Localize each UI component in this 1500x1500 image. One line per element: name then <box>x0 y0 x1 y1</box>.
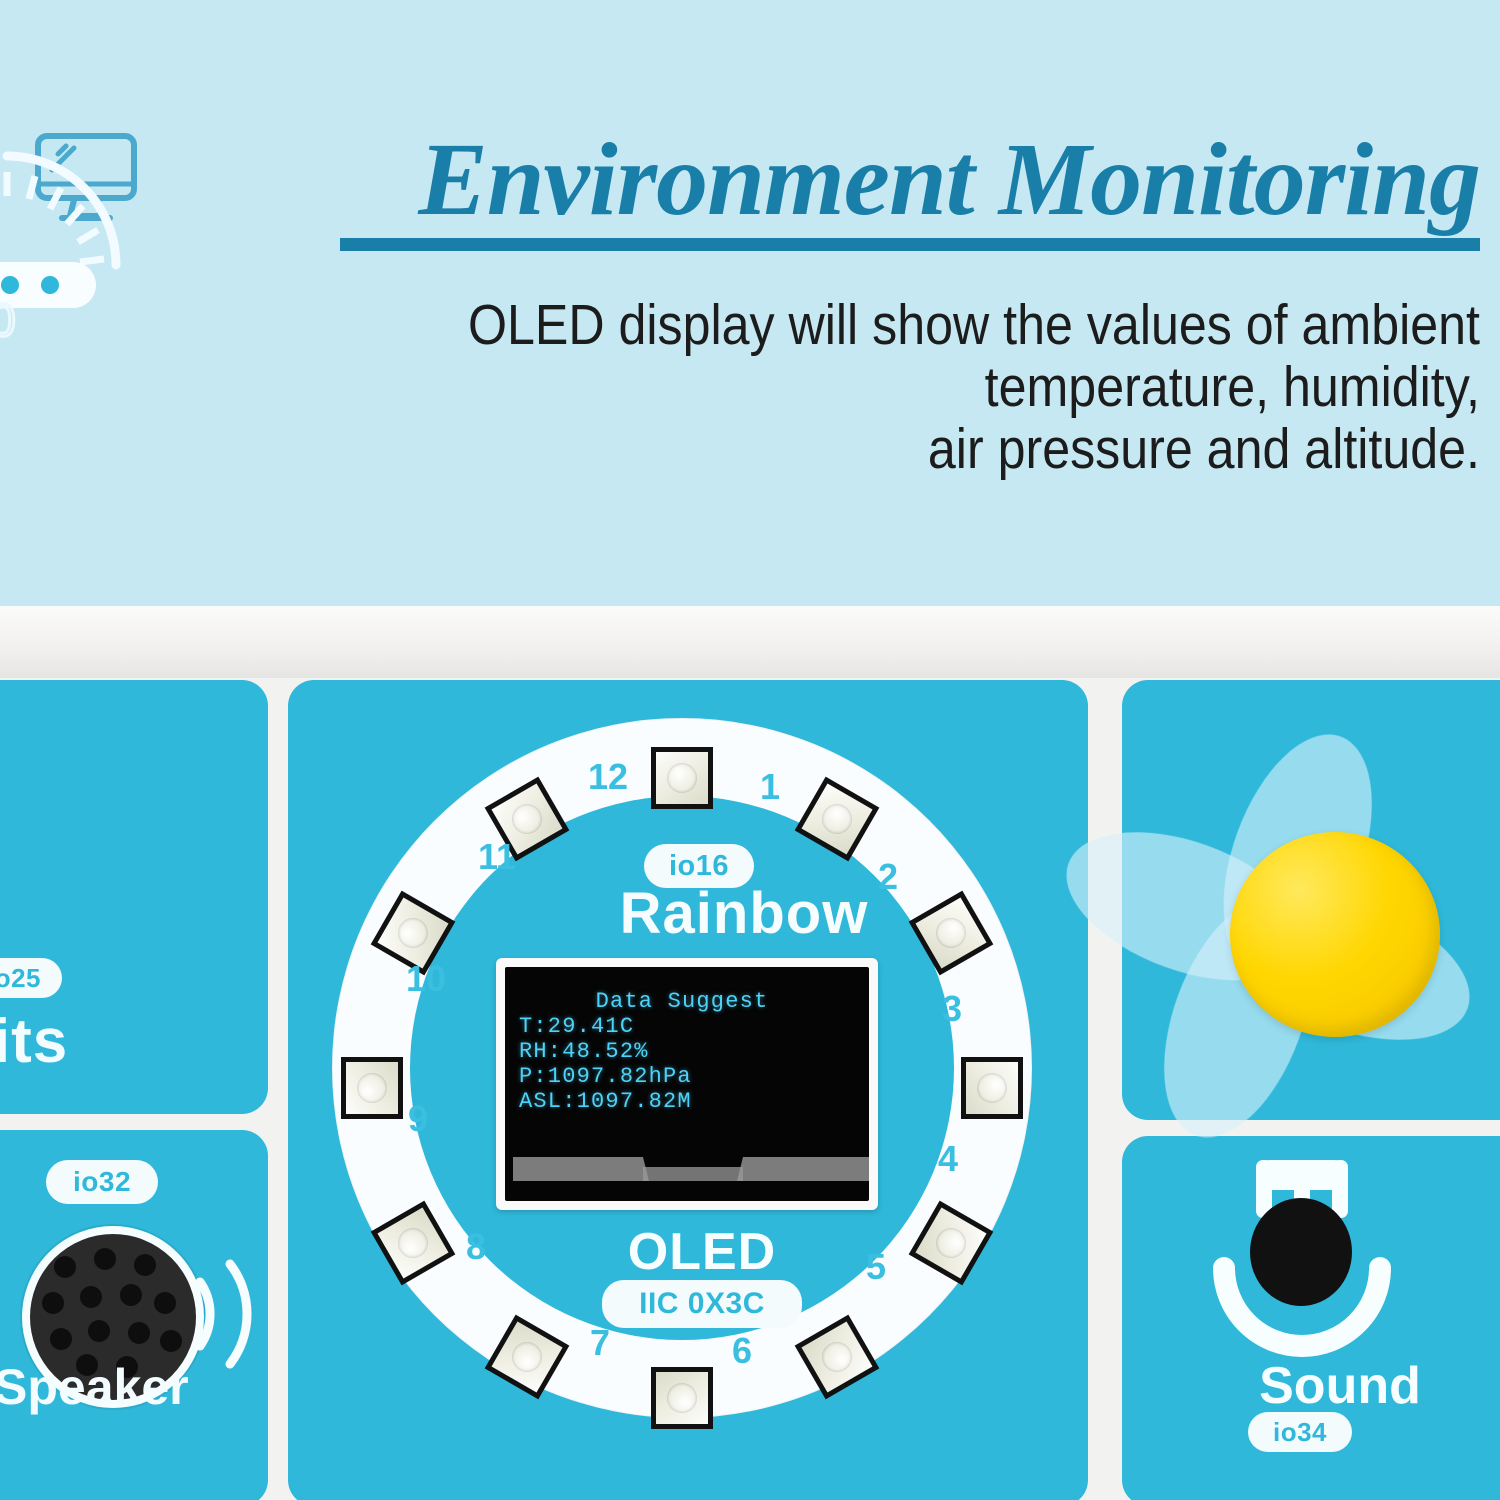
subtitle-line-3: air pressure and altitude. <box>301 420 1480 478</box>
oled-address-chip: IIC 0X3C <box>602 1280 802 1328</box>
oled-ribbon-cable <box>513 1155 869 1185</box>
oled-line-temperature: T:29.41C <box>519 1014 859 1039</box>
led-number-4: 4 <box>938 1138 958 1180</box>
module-label-rainbow-text: Rainbow <box>620 880 869 947</box>
oled-text-block: Data Suggest T:29.41C RH:48.52% P:1097.8… <box>519 989 859 1114</box>
module-label-bits: bits <box>0 1006 68 1077</box>
fan-icon <box>980 636 1500 1196</box>
pin-chip-io34: io34 <box>1248 1412 1352 1452</box>
microphone-icon <box>1198 1160 1408 1370</box>
oled-display: Data Suggest T:29.41C RH:48.52% P:1097.8… <box>496 958 878 1210</box>
led-12[interactable] <box>651 747 713 809</box>
led-number-3: 3 <box>942 988 962 1030</box>
led-number-9: 9 <box>408 1098 428 1140</box>
module-label-speaker: Speaker <box>0 1358 189 1416</box>
header-banner: Environment Monitoring OLED display will… <box>0 0 1500 606</box>
led-number-12: 12 <box>588 756 628 798</box>
led-number-8: 8 <box>466 1226 486 1268</box>
page-root: Environment Monitoring OLED display will… <box>0 0 1500 1500</box>
fan-hub[interactable] <box>1230 832 1440 1037</box>
led-number-5: 5 <box>866 1246 886 1288</box>
led-number-6: 6 <box>732 1330 752 1372</box>
led-number-7: 7 <box>590 1322 610 1364</box>
oled-line-humidity: RH:48.52% <box>519 1039 859 1064</box>
microphone-sensor[interactable] <box>1250 1198 1352 1306</box>
gauge-dial-icon: 75 0 <box>0 140 132 390</box>
title-underline <box>340 238 1480 251</box>
pin-chip-io25: io25 <box>0 958 62 998</box>
sound-waves-icon <box>186 1244 276 1384</box>
connector-mark-icon: ✕ <box>0 1280 7 1362</box>
oled-header-line: Data Suggest <box>519 989 859 1014</box>
oled-line-altitude: ASL:1097.82M <box>519 1089 859 1114</box>
svg-text:0: 0 <box>0 294 16 346</box>
subtitle-line-1: OLED display will show the values of amb… <box>301 296 1480 354</box>
led-9[interactable] <box>341 1057 403 1119</box>
led-6[interactable] <box>651 1367 713 1429</box>
led-number-1: 1 <box>760 766 780 808</box>
subtitle-line-2: temperature, humidity, <box>301 358 1480 416</box>
pin-chip-io32: io32 <box>46 1160 158 1204</box>
page-subtitle: OLED display will show the values of amb… <box>301 296 1480 482</box>
oled-line-pressure: P:1097.82hPa <box>519 1064 859 1089</box>
page-title: Environment Monitoring <box>320 124 1480 236</box>
oled-screen: Data Suggest T:29.41C RH:48.52% P:1097.8… <box>505 967 869 1201</box>
module-label-oled: OLED <box>592 1222 812 1282</box>
led-number-10: 10 <box>406 958 446 1000</box>
led-number-11: 11 <box>478 836 516 878</box>
module-label-sound: Sound <box>1130 1356 1500 1416</box>
